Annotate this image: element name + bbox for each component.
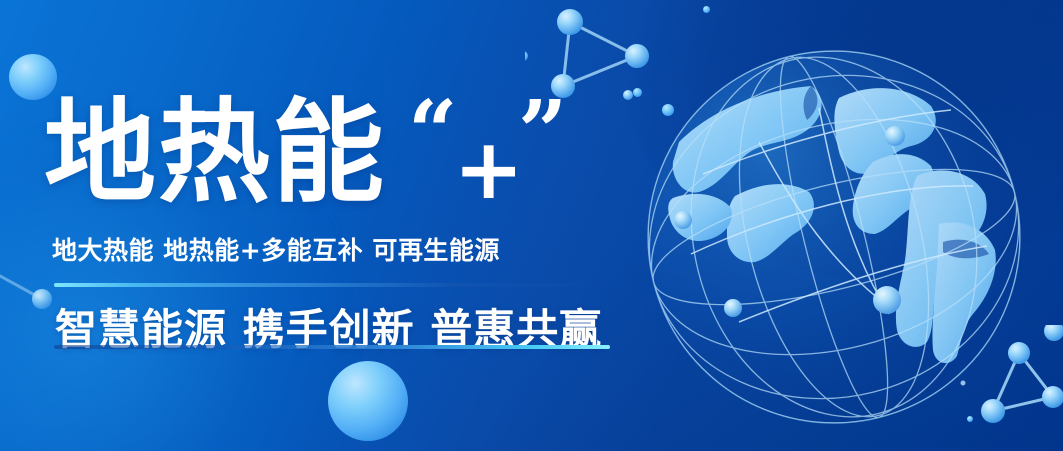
divider-top (54, 283, 610, 287)
divider-bottom (54, 345, 610, 349)
geothermal-banner: 地热能 “ + ” 地大热能 地热能+多能互补 可再生能源 智慧能源 携手创新 … (0, 0, 1063, 451)
quote-open-mark: “ (408, 93, 457, 172)
quoted-plus-group: “ + ” (408, 97, 567, 209)
quote-close-mark: ” (518, 93, 567, 172)
decorative-dot-c (703, 6, 710, 13)
wireframe-globe-icon (643, 46, 1025, 428)
banner-title: 地热能 “ + ” (44, 97, 567, 209)
globe-graphic (643, 46, 1025, 428)
banner-subtitle: 地大热能 地热能+多能互补 可再生能源 (52, 231, 500, 267)
title-main-text: 地热能 (44, 97, 386, 209)
plus-symbol: + (453, 127, 523, 211)
banner-text-block: 地热能 “ + ” 地大热能 地热能+多能互补 可再生能源 智慧能源 携手创新 … (0, 0, 640, 451)
